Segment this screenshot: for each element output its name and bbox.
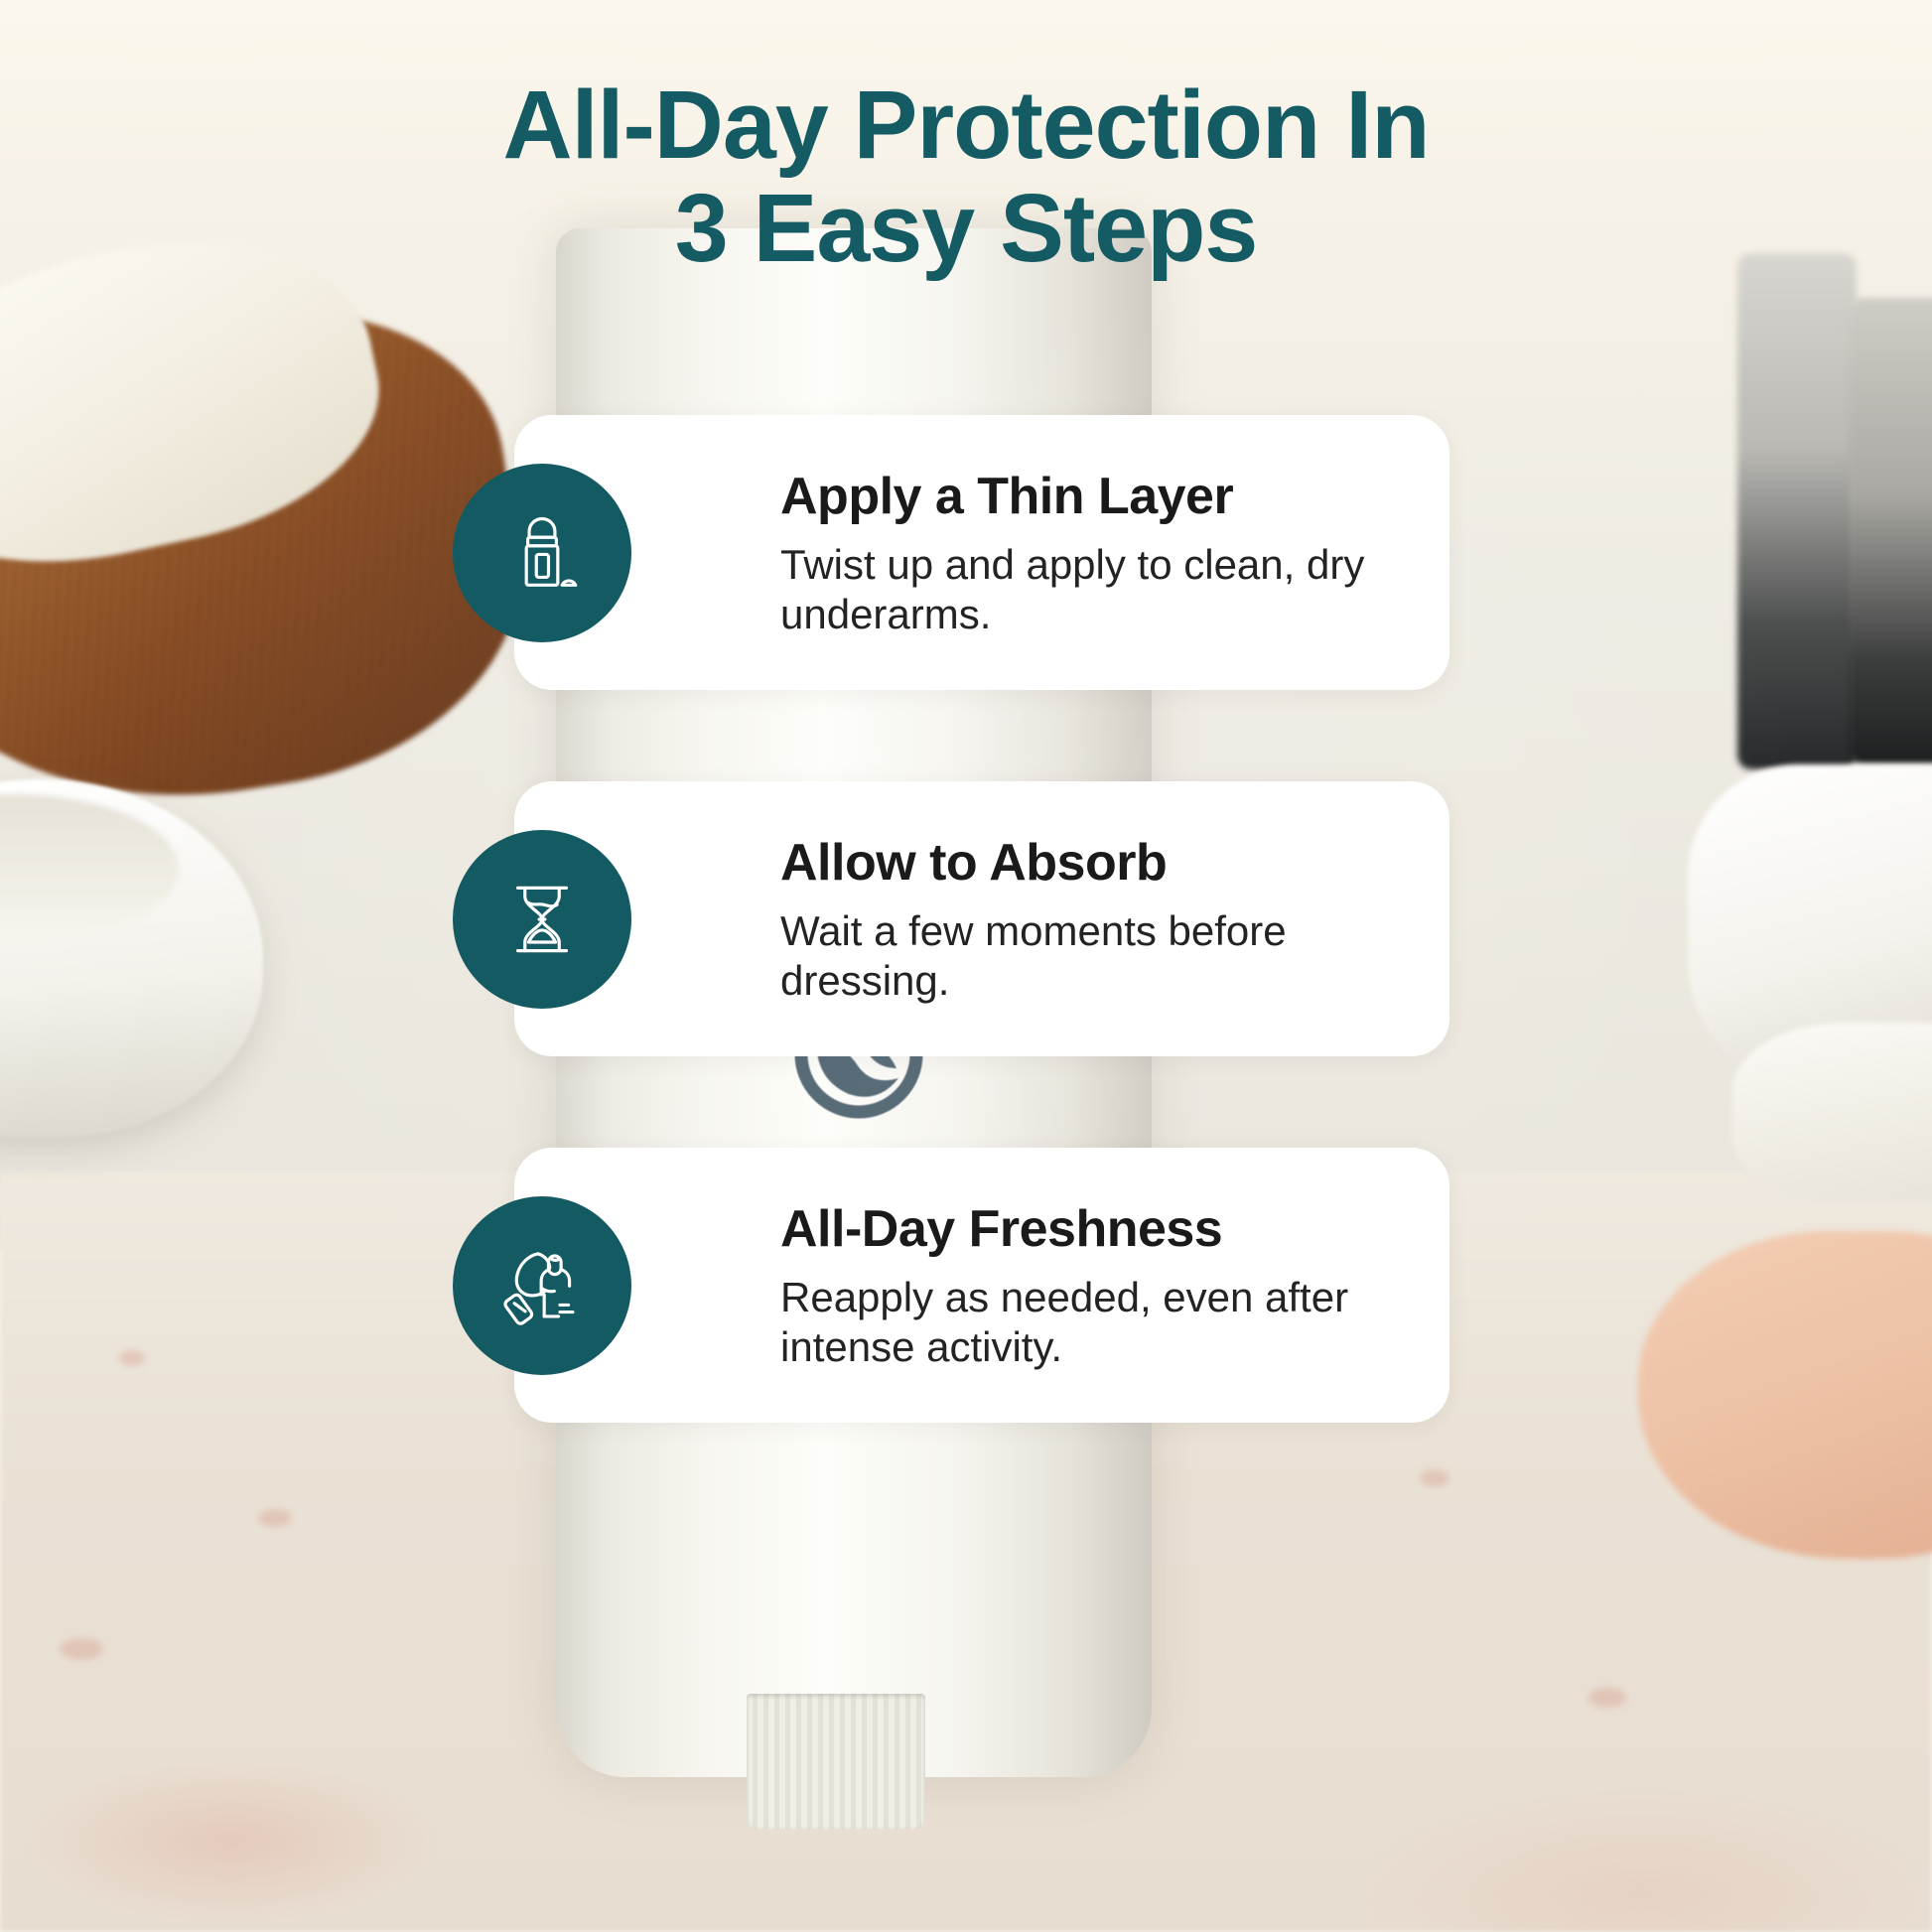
step-card-3[interactable]: All-Day Freshness Reapply as needed, eve… bbox=[514, 1148, 1449, 1423]
step-3-title: All-Day Freshness bbox=[780, 1199, 1392, 1259]
step-3-body: Reapply as needed, even after intense ac… bbox=[780, 1273, 1392, 1371]
step-card-1[interactable]: Apply a Thin Layer Twist up and apply to… bbox=[514, 415, 1449, 690]
steps-list: Apply a Thin Layer Twist up and apply to… bbox=[514, 415, 1449, 1423]
page-title-line-1: All-Day Protection In bbox=[503, 70, 1430, 179]
step-1-body: Twist up and apply to clean, dry underar… bbox=[780, 540, 1392, 638]
step-2-icon-badge bbox=[453, 830, 631, 1009]
deodorant-stick-icon bbox=[496, 507, 588, 599]
page-title: All-Day Protection In 3 Easy Steps bbox=[0, 73, 1932, 280]
person-applying-deodorant-icon bbox=[496, 1240, 588, 1331]
step-1-title: Apply a Thin Layer bbox=[780, 467, 1392, 526]
step-card-2[interactable]: Allow to Absorb Wait a few moments befor… bbox=[514, 781, 1449, 1056]
step-2-body: Wait a few moments before dressing. bbox=[780, 906, 1392, 1005]
step-3-icon-badge bbox=[453, 1196, 631, 1375]
hourglass-icon bbox=[496, 874, 588, 965]
step-1-icon-badge bbox=[453, 464, 631, 642]
page-title-line-2: 3 Easy Steps bbox=[0, 177, 1932, 280]
infographic-root: P K All-Day Protection In 3 Easy Steps A… bbox=[0, 0, 1932, 1932]
step-2-title: Allow to Absorb bbox=[780, 833, 1392, 893]
